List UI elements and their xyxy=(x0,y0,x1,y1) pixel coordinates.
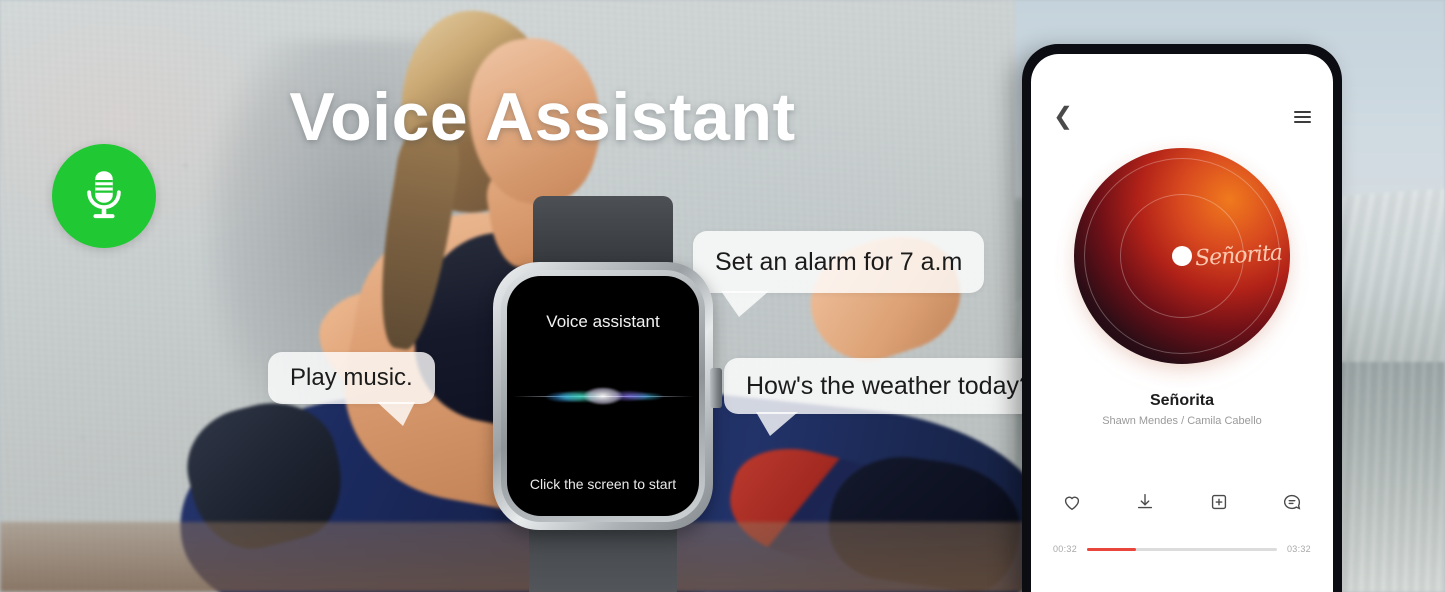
smartphone: ❮ Señorita Señorita Shawn Mendes / Camil… xyxy=(1022,44,1342,592)
watch-crown-button[interactable] xyxy=(710,368,722,408)
promo-banner: Voice Assistant Set an alarm for 7 a.m P… xyxy=(0,0,1445,592)
speech-bubble-alarm-text: Set an alarm for 7 a.m xyxy=(715,248,962,277)
watch-screen[interactable]: Voice assistant Click the screen to star… xyxy=(507,276,699,516)
speech-bubble-weather: How's the weather today? xyxy=(724,358,1055,414)
progress-bar-fill xyxy=(1087,548,1136,551)
speech-bubble-play-music-text: Play music. xyxy=(290,364,413,392)
smartwatch: Voice assistant Click the screen to star… xyxy=(493,196,713,586)
speech-bubble-weather-text: How's the weather today? xyxy=(746,372,1033,401)
microphone-badge[interactable] xyxy=(52,144,156,248)
speech-bubble-tail xyxy=(721,291,769,317)
track-artist: Shawn Mendes / Camila Cabello xyxy=(1031,415,1333,427)
speech-bubble-tail xyxy=(377,402,415,426)
watch-bezel: Voice assistant Click the screen to star… xyxy=(501,270,705,522)
phone-top-bar: ❮ xyxy=(1031,100,1333,134)
siri-waveform-icon xyxy=(507,376,699,416)
album-art-container[interactable]: Señorita xyxy=(1031,148,1333,364)
watch-case: Voice assistant Click the screen to star… xyxy=(493,262,713,530)
phone-screen: ❮ Señorita Señorita Shawn Mendes / Camil… xyxy=(1031,54,1333,592)
total-time: 03:32 xyxy=(1287,544,1311,554)
download-icon[interactable] xyxy=(1132,489,1158,515)
add-to-playlist-icon[interactable] xyxy=(1206,489,1232,515)
like-icon[interactable] xyxy=(1059,489,1085,515)
playback-progress: 00:32 03:32 xyxy=(1031,544,1333,554)
track-title: Señorita xyxy=(1031,392,1333,410)
vinyl-center-hole xyxy=(1172,246,1192,266)
vinyl-album-art: Señorita xyxy=(1074,148,1290,364)
player-action-bar xyxy=(1031,489,1333,515)
speech-bubble-play-music: Play music. xyxy=(268,352,435,404)
comment-icon[interactable] xyxy=(1279,489,1305,515)
microphone-icon xyxy=(76,166,132,227)
current-time: 00:32 xyxy=(1053,544,1077,554)
chevron-left-icon[interactable]: ❮ xyxy=(1053,105,1073,129)
watch-screen-hint: Click the screen to start xyxy=(507,476,699,492)
watch-screen-title: Voice assistant xyxy=(507,312,699,332)
speech-bubble-alarm: Set an alarm for 7 a.m xyxy=(693,231,984,293)
progress-bar[interactable] xyxy=(1087,548,1277,551)
speech-bubble-tail xyxy=(756,412,798,436)
hamburger-menu-icon[interactable] xyxy=(1294,111,1311,123)
